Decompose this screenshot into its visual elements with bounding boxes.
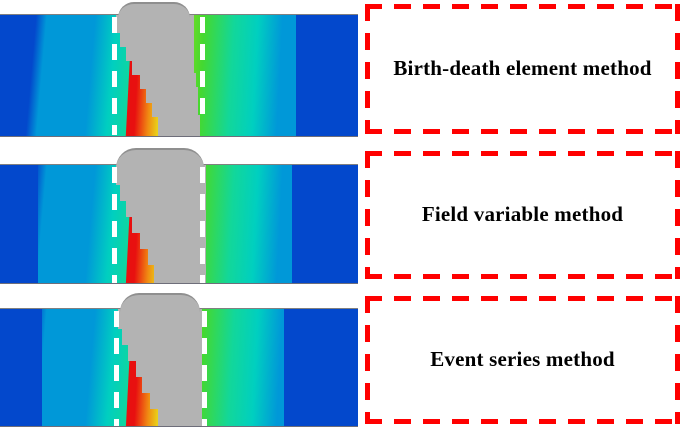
method-label: Event series method (416, 347, 629, 373)
dashed-border-bottom (365, 129, 680, 134)
fusion-boundary-marker-left (112, 17, 117, 135)
fusion-boundary-marker-right (202, 311, 207, 427)
weld-bead-cap (120, 293, 200, 312)
label-box-event-series: Event series method (365, 296, 680, 424)
label-box-birth-death-element: Birth-death element method (365, 4, 680, 134)
dashed-border-top (365, 296, 680, 301)
method-comparison-figure: Birth-death element method (0, 0, 685, 432)
dashed-border-left (365, 4, 370, 134)
comparison-row: Field variable method (0, 145, 685, 290)
dashed-border-left (365, 151, 370, 279)
fusion-boundary-marker-right (200, 167, 205, 284)
fusion-boundary-marker-right (200, 17, 205, 123)
fusion-zone-segment (154, 263, 206, 284)
dashed-border-bottom (365, 419, 680, 424)
method-label: Field variable method (408, 202, 637, 228)
dashed-border-top (365, 4, 680, 9)
plate-cross-section (0, 14, 358, 137)
dashed-border-right (675, 4, 680, 134)
method-label: Birth-death element method (379, 56, 665, 82)
fusion-zone-segment (158, 407, 202, 427)
fusion-zone-segment (158, 115, 200, 137)
fusion-boundary-marker-left (112, 167, 117, 284)
dashed-border-right (675, 296, 680, 424)
dashed-border-left (365, 296, 370, 424)
comparison-row: Event series method (0, 290, 685, 432)
fusion-zone-segment (118, 309, 202, 329)
label-box-field-variable: Field variable method (365, 151, 680, 279)
cold-margin-left (0, 309, 42, 426)
dashed-border-top (365, 151, 680, 156)
dashed-border-bottom (365, 274, 680, 279)
contour-plot-birth-death-element (0, 0, 358, 145)
cold-margin-right (284, 309, 358, 426)
cold-margin-left (0, 165, 38, 283)
fusion-boundary-marker-left (114, 311, 119, 427)
weld-bead-cap (118, 2, 190, 18)
comparison-row: Birth-death element method (0, 0, 685, 145)
dashed-border-right (675, 151, 680, 279)
cold-margin-right (292, 165, 358, 283)
contour-plot-event-series (0, 290, 358, 432)
weld-bead-cap (116, 148, 204, 168)
fusion-zone-segment (116, 165, 206, 185)
cold-margin-left (0, 15, 26, 136)
cold-margin-right (296, 15, 358, 136)
plate-cross-section (0, 164, 358, 284)
contour-plot-field-variable (0, 145, 358, 290)
plate-cross-section (0, 308, 358, 427)
